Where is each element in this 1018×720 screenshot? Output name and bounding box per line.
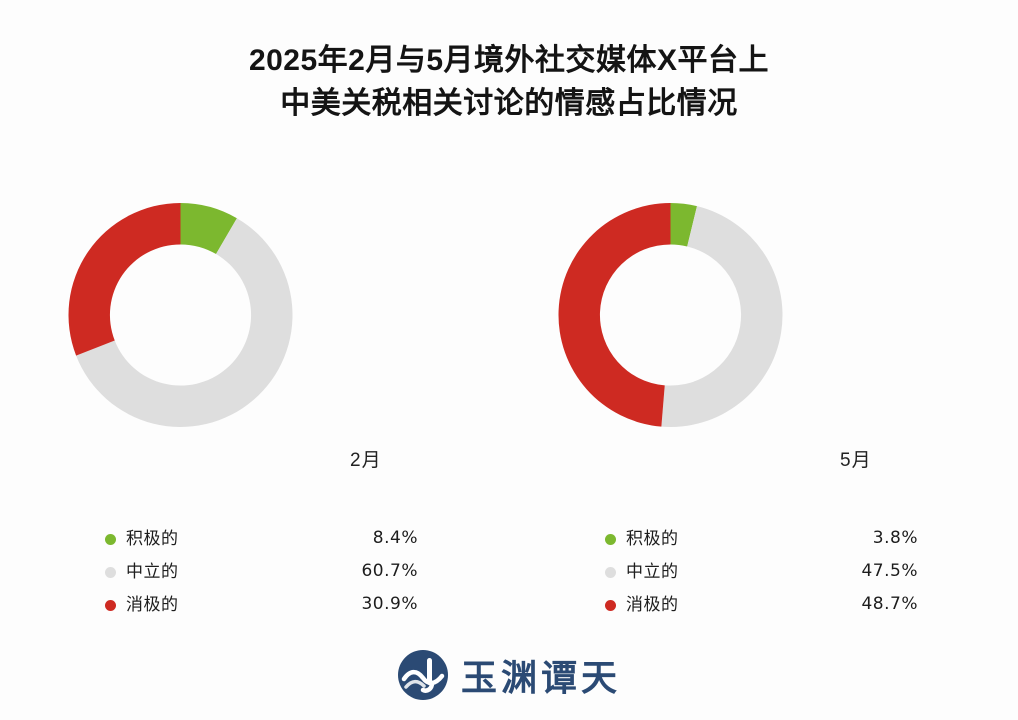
chart-panel-may: 5月 <box>530 160 970 490</box>
legend-value-neutral: 47.5% <box>800 555 918 588</box>
legend-may: 积极的 3.8% 中立的 47.5% 消极的 48.7% <box>600 522 940 621</box>
legend-item: 消极的 48.7% <box>600 588 940 621</box>
charts-container: 2月 5月 <box>0 160 1018 490</box>
legend-dot-positive-icon <box>105 534 116 545</box>
donut-slices-february <box>68 203 292 427</box>
legend-label-negative: 消极的 <box>126 588 179 621</box>
legend-value-positive: 3.8% <box>800 522 918 555</box>
donut-svg-may <box>558 160 783 470</box>
donut-svg-february <box>68 160 293 470</box>
legend-label-positive: 积极的 <box>626 522 679 555</box>
donut-caption-february: 2月 <box>350 445 382 472</box>
page-title-line-2: 中美关税相关讨论的情感占比情况 <box>0 83 1018 126</box>
donut-slices-may <box>558 203 782 427</box>
legend-value-neutral: 60.7% <box>300 555 418 588</box>
legends-container: 积极的 8.4% 中立的 60.7% 消极的 30.9% 积极的 3.8% 中立… <box>0 522 1018 642</box>
legend-label-neutral: 中立的 <box>626 555 679 588</box>
donut-caption-may: 5月 <box>840 445 872 472</box>
donut-chart-february <box>68 160 293 470</box>
page-title: 2025年2月与5月境外社交媒体X平台上 中美关税相关讨论的情感占比情况 <box>0 40 1018 125</box>
legend-label-positive: 积极的 <box>126 522 179 555</box>
legend-dot-neutral-icon <box>105 567 116 578</box>
donut-slice-消极的 <box>558 203 670 427</box>
donut-slice-消极的 <box>68 203 180 356</box>
legend-label-neutral: 中立的 <box>126 555 179 588</box>
legend-label-negative: 消极的 <box>626 588 679 621</box>
chart-panel-february: 2月 <box>40 160 480 490</box>
legend-february: 积极的 8.4% 中立的 60.7% 消极的 30.9% <box>100 522 440 621</box>
legend-dot-negative-icon <box>605 600 616 611</box>
legend-item: 中立的 47.5% <box>600 555 940 588</box>
donut-chart-may <box>558 160 783 470</box>
legend-dot-positive-icon <box>605 534 616 545</box>
legend-value-negative: 30.9% <box>300 588 418 621</box>
legend-value-positive: 8.4% <box>300 522 418 555</box>
legend-item: 积极的 8.4% <box>100 522 440 555</box>
legend-item: 中立的 60.7% <box>100 555 440 588</box>
legend-item: 积极的 3.8% <box>600 522 940 555</box>
watermark: 玉渊谭天 <box>0 640 1018 710</box>
wave-circle-icon <box>397 649 449 701</box>
page-title-line-1: 2025年2月与5月境外社交媒体X平台上 <box>0 40 1018 83</box>
watermark-text: 玉渊谭天 <box>461 649 621 701</box>
legend-dot-neutral-icon <box>605 567 616 578</box>
legend-item: 消极的 30.9% <box>100 588 440 621</box>
legend-dot-negative-icon <box>105 600 116 611</box>
legend-value-negative: 48.7% <box>800 588 918 621</box>
